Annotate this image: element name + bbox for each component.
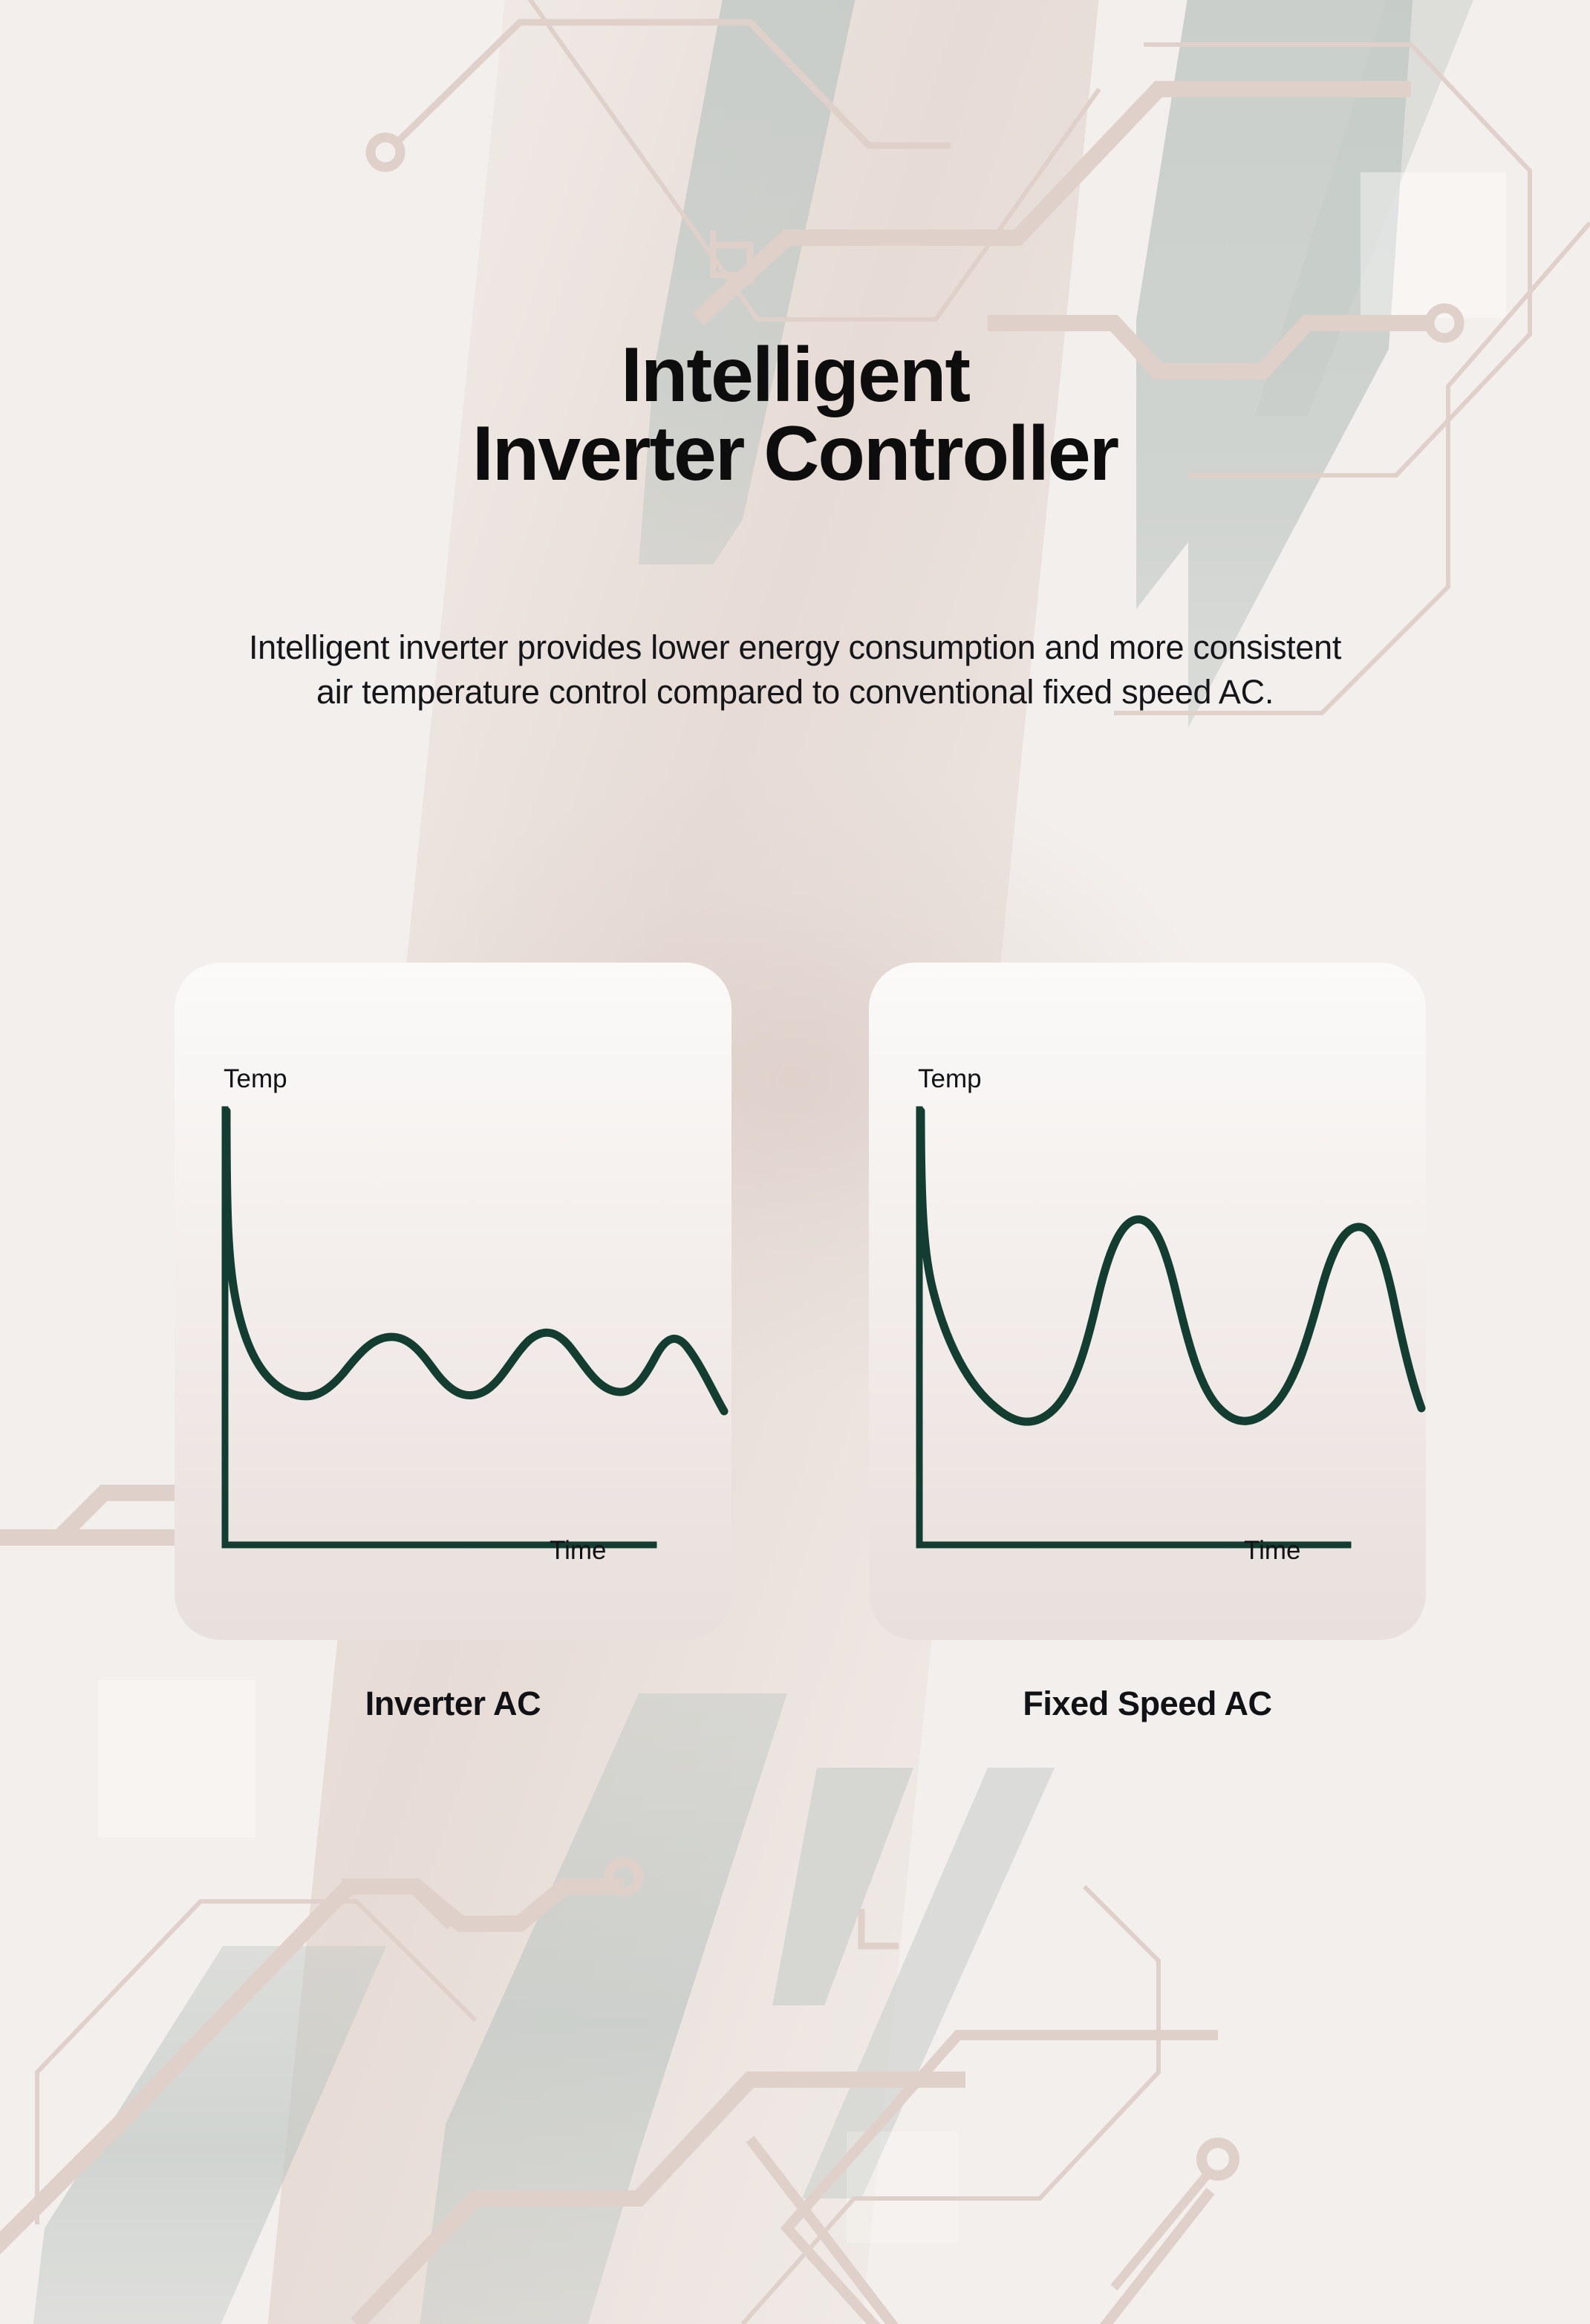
chart-card-inverter: Temp Time (175, 963, 732, 1640)
chart-card-fixed-speed: Temp Time (869, 963, 1426, 1640)
x-axis-label-fixed: Time (1244, 1536, 1300, 1566)
caption-inverter-ac: Inverter AC (175, 1685, 732, 1723)
poster-canvas: Intelligent Inverter Controller Intellig… (0, 0, 1590, 2324)
y-axis-label-inverter: Temp (224, 1064, 287, 1094)
temperature-curve-fixed-speed (921, 1111, 1421, 1422)
page-title: Intelligent Inverter Controller (0, 336, 1590, 493)
x-axis-label-inverter: Time (550, 1536, 606, 1566)
y-axis-label-fixed: Temp (918, 1064, 982, 1094)
page-subtitle: Intelligent inverter provides lower ener… (231, 625, 1360, 715)
caption-fixed-speed-ac: Fixed Speed AC (869, 1685, 1426, 1723)
temperature-curve-inverter (227, 1111, 724, 1411)
